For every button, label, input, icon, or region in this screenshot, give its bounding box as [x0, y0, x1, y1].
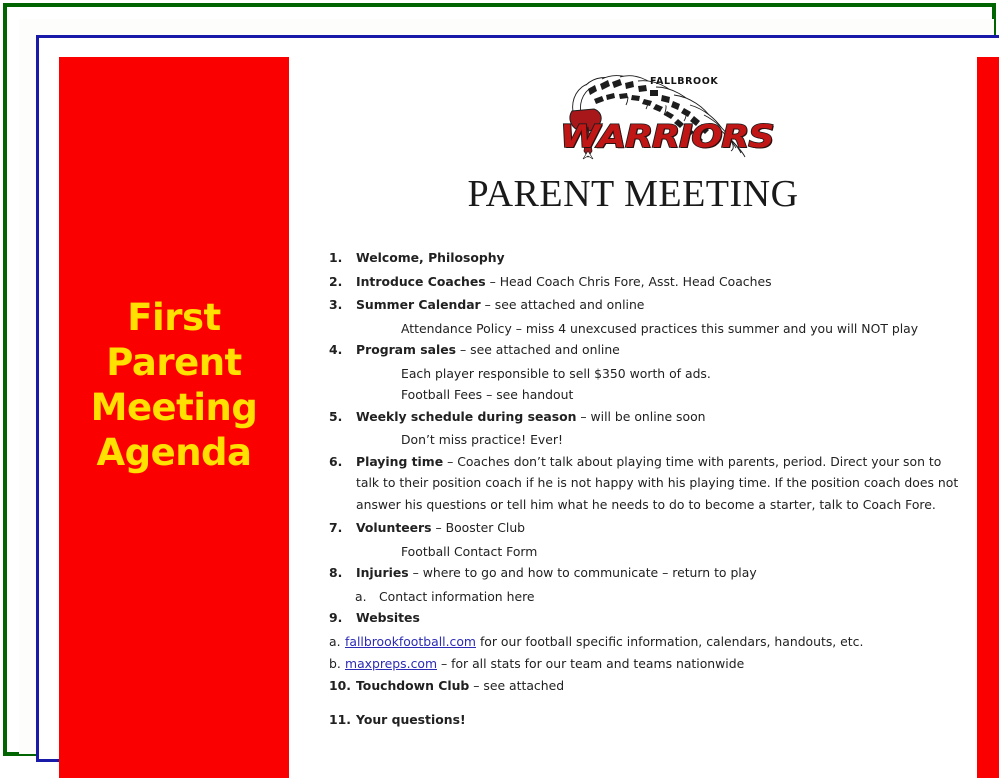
agenda-subitem: Football Fees – see handout: [329, 384, 959, 406]
agenda-item: 11.Your questions!: [329, 709, 959, 731]
agenda-item-heading: Welcome, Philosophy: [356, 250, 505, 265]
agenda-subitem: Football Contact Form: [329, 541, 959, 563]
agenda-item-detail: – Coaches don’t talk about playing time …: [356, 454, 958, 512]
agenda-item: 8.Injuries – where to go and how to comm…: [329, 562, 959, 584]
inner-blue-border: First Parent Meeting Agenda: [36, 35, 999, 762]
agenda-item-heading: Weekly schedule during season: [356, 409, 576, 424]
agenda-item-number: 2.: [329, 271, 353, 293]
agenda-item-heading: Program sales: [356, 342, 456, 357]
agenda-item-heading: Introduce Coaches: [356, 274, 486, 289]
agenda-subitem: Attendance Policy – miss 4 unexcused pra…: [329, 318, 959, 340]
agenda-item: 1.Welcome, Philosophy: [329, 247, 959, 269]
outer-green-border: First Parent Meeting Agenda: [3, 3, 996, 756]
agenda-item-number: 1.: [329, 247, 353, 269]
agenda-item-heading: Volunteers: [356, 520, 432, 535]
panel-title-line-1: First: [71, 295, 277, 340]
panel-title-line-3: Meeting: [71, 385, 277, 430]
website-link[interactable]: fallbrookfootball.com: [345, 634, 476, 649]
agenda-item-detail: – see attached and online: [456, 342, 620, 357]
panel-title-line-4: Agenda: [71, 430, 277, 475]
agenda-list: 1.Welcome, Philosophy2.Introduce Coaches…: [329, 247, 959, 733]
website-list-item: a.fallbrookfootball.com for our football…: [329, 631, 959, 653]
agenda-item: 2.Introduce Coaches – Head Coach Chris F…: [329, 271, 959, 293]
agenda-item-number: 8.: [329, 562, 353, 584]
fallbrook-warriors-logo: FALLBROOK WARRIORS: [542, 65, 762, 163]
agenda-subitem-letter: a.: [355, 586, 367, 608]
agenda-item-heading: Websites: [356, 610, 420, 625]
white-margin: First Parent Meeting Agenda: [19, 19, 994, 754]
agenda-item-number: 9.: [329, 607, 353, 629]
logo-school-name: FALLBROOK: [650, 76, 718, 87]
panel-title: First Parent Meeting Agenda: [71, 295, 277, 475]
agenda-item-number: 4.: [329, 339, 353, 361]
panel-title-line-2: Parent: [71, 340, 277, 385]
website-link[interactable]: maxpreps.com: [345, 656, 437, 671]
agenda-item-detail: – see attached: [469, 678, 564, 693]
page-title: PARENT MEETING: [289, 172, 977, 216]
agenda-item-number: 5.: [329, 406, 353, 428]
website-item-letter: a.: [329, 631, 341, 653]
agenda-item-number: 10.: [329, 675, 355, 697]
logo-mascot-name: WARRIORS: [560, 119, 773, 155]
agenda-item-heading: Touchdown Club: [356, 678, 469, 693]
content-column: FALLBROOK WARRIORS PARENT MEETING 1.Welc…: [289, 57, 977, 778]
agenda-item: 3.Summer Calendar – see attached and onl…: [329, 294, 959, 316]
right-red-strip: [977, 57, 999, 778]
agenda-item: 5.Weekly schedule during season – will b…: [329, 406, 959, 428]
agenda-item: 4.Program sales – see attached and onlin…: [329, 339, 959, 361]
website-list-item: b.maxpreps.com – for all stats for our t…: [329, 653, 959, 675]
agenda-item-number: 6.: [329, 451, 353, 473]
agenda-item-number: 3.: [329, 294, 353, 316]
agenda-item-heading: Playing time: [356, 454, 443, 469]
agenda-item: 6.Playing time – Coaches don’t talk abou…: [329, 451, 959, 516]
agenda-item-number: 11.: [329, 709, 355, 731]
agenda-item-number: 7.: [329, 517, 353, 539]
agenda-item: 9.Websites: [329, 607, 959, 629]
agenda-item: 7.Volunteers – Booster Club: [329, 517, 959, 539]
agenda-item-detail: – Booster Club: [432, 520, 526, 535]
slide-page: First Parent Meeting Agenda: [0, 0, 999, 759]
agenda-item-detail: – where to go and how to communicate – r…: [409, 565, 757, 580]
agenda-item-detail: – Head Coach Chris Fore, Asst. Head Coac…: [486, 274, 772, 289]
agenda-subitem: Each player responsible to sell $350 wor…: [329, 363, 959, 385]
agenda-item-heading: Summer Calendar: [356, 297, 481, 312]
agenda-item: 10.Touchdown Club – see attached: [329, 675, 959, 697]
agenda-item-detail: – will be online soon: [576, 409, 705, 424]
website-item-letter: b.: [329, 653, 341, 675]
agenda-item-heading: Your questions!: [356, 712, 466, 727]
agenda-item-heading: Injuries: [356, 565, 409, 580]
slide-canvas: First Parent Meeting Agenda: [59, 57, 999, 778]
agenda-subitem: Don’t miss practice! Ever!: [329, 429, 959, 451]
agenda-subitem-lettered: a.Contact information here: [329, 586, 959, 608]
agenda-item-detail: – see attached and online: [481, 297, 645, 312]
